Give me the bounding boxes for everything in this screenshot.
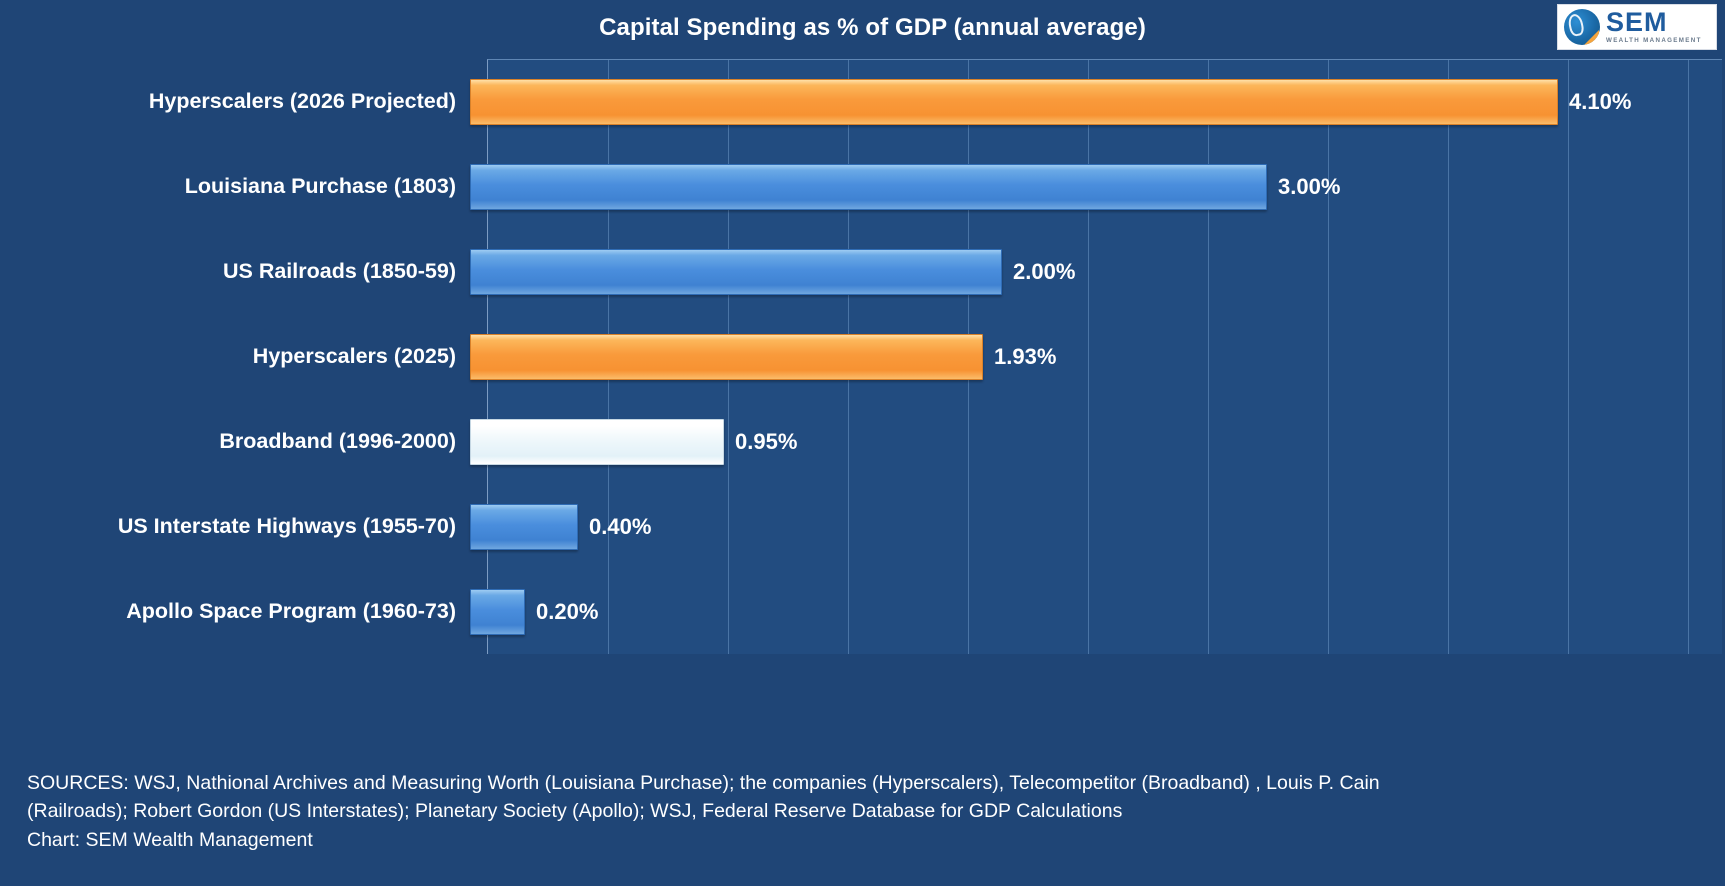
bar-row: Hyperscalers (2025)1.93% — [0, 314, 1725, 399]
bar[interactable] — [470, 79, 1558, 125]
category-label: US Interstate Highways (1955-70) — [0, 514, 470, 539]
page-title: Capital Spending as % of GDP (annual ave… — [0, 14, 1725, 42]
category-label: Hyperscalers (2025) — [0, 344, 470, 369]
bar-row: Apollo Space Program (1960-73)0.20% — [0, 569, 1725, 654]
sources-line-2: (Railroads); Robert Gordon (US Interstat… — [27, 797, 1687, 825]
data-label: 2.00% — [1013, 259, 1075, 285]
sem-globe-icon — [1564, 9, 1600, 45]
sources-note: SOURCES: WSJ, Nathional Archives and Mea… — [27, 769, 1687, 854]
sem-logo: SEM WEALTH MANAGEMENT — [1557, 4, 1717, 50]
bar-track: 0.20% — [470, 569, 1725, 654]
data-label: 1.93% — [994, 344, 1056, 370]
category-label: Broadband (1996-2000) — [0, 429, 470, 454]
bar[interactable] — [470, 419, 724, 465]
bar-row: Louisiana Purchase (1803)3.00% — [0, 144, 1725, 229]
bar-row: Broadband (1996-2000)0.95% — [0, 399, 1725, 484]
bar-track: 4.10% — [470, 59, 1725, 144]
bar-track: 0.95% — [470, 399, 1725, 484]
bar-track: 0.40% — [470, 484, 1725, 569]
category-label: Hyperscalers (2026 Projected) — [0, 89, 470, 114]
bar-rows: Hyperscalers (2026 Projected)4.10%Louisi… — [0, 59, 1725, 654]
bar-track: 1.93% — [470, 314, 1725, 399]
chart-canvas: Capital Spending as % of GDP (annual ave… — [0, 0, 1725, 886]
bar[interactable] — [470, 589, 525, 635]
bar[interactable] — [470, 504, 578, 550]
data-label: 0.20% — [536, 599, 598, 625]
category-label: Apollo Space Program (1960-73) — [0, 599, 470, 624]
bar-row: US Interstate Highways (1955-70)0.40% — [0, 484, 1725, 569]
data-label: 4.10% — [1569, 89, 1631, 115]
bar-row: US Railroads (1850-59)2.00% — [0, 229, 1725, 314]
data-label: 0.40% — [589, 514, 651, 540]
bar[interactable] — [470, 249, 1002, 295]
bar[interactable] — [470, 164, 1267, 210]
bar-track: 3.00% — [470, 144, 1725, 229]
data-label: 0.95% — [735, 429, 797, 455]
logo-wordmark: SEM — [1606, 9, 1702, 36]
bar[interactable] — [470, 334, 983, 380]
category-label: Louisiana Purchase (1803) — [0, 174, 470, 199]
category-label: US Railroads (1850-59) — [0, 259, 470, 284]
sources-line-1: SOURCES: WSJ, Nathional Archives and Mea… — [27, 769, 1687, 797]
logo-tagline: WEALTH MANAGEMENT — [1606, 38, 1702, 44]
bar-track: 2.00% — [470, 229, 1725, 314]
data-label: 3.00% — [1278, 174, 1340, 200]
bar-row: Hyperscalers (2026 Projected)4.10% — [0, 59, 1725, 144]
sources-line-3: Chart: SEM Wealth Management — [27, 826, 1687, 854]
